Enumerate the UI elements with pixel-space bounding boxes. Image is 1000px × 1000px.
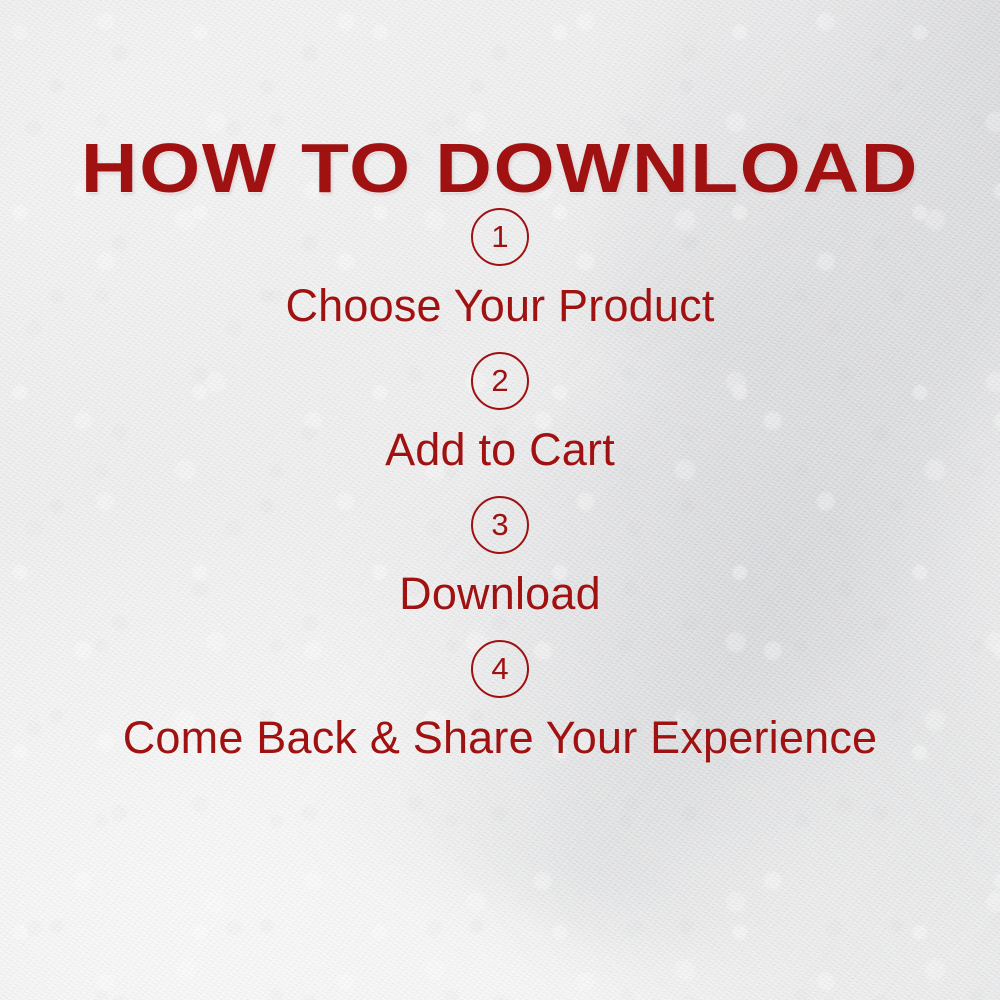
steps-list: 1 Choose Your Product 2 Add to Cart 3 Do…	[0, 208, 1000, 760]
step-number-circle-3: 3	[471, 496, 529, 554]
step-text-1: Choose Your Product	[285, 283, 714, 328]
poster-content: HOW TO DOWNLOAD 1 Choose Your Product 2 …	[0, 0, 1000, 1000]
step-number-circle-1: 1	[471, 208, 529, 266]
step-number-label: 2	[491, 365, 508, 396]
step-number-label: 4	[491, 653, 508, 684]
step-text-2: Add to Cart	[385, 427, 615, 472]
step-text-4: Come Back & Share Your Experience	[123, 715, 878, 760]
step-number-label: 3	[491, 509, 508, 540]
page-title: HOW TO DOWNLOAD	[0, 133, 1000, 203]
step-text-3: Download	[399, 571, 601, 616]
step-number-circle-2: 2	[471, 352, 529, 410]
step-number-circle-4: 4	[471, 640, 529, 698]
step-item-1: 1 Choose Your Product	[0, 208, 1000, 328]
step-item-4: 4 Come Back & Share Your Experience	[0, 640, 1000, 760]
step-number-label: 1	[491, 221, 508, 252]
poster-canvas: HOW TO DOWNLOAD 1 Choose Your Product 2 …	[0, 0, 1000, 1000]
step-item-3: 3 Download	[0, 496, 1000, 616]
step-item-2: 2 Add to Cart	[0, 352, 1000, 472]
